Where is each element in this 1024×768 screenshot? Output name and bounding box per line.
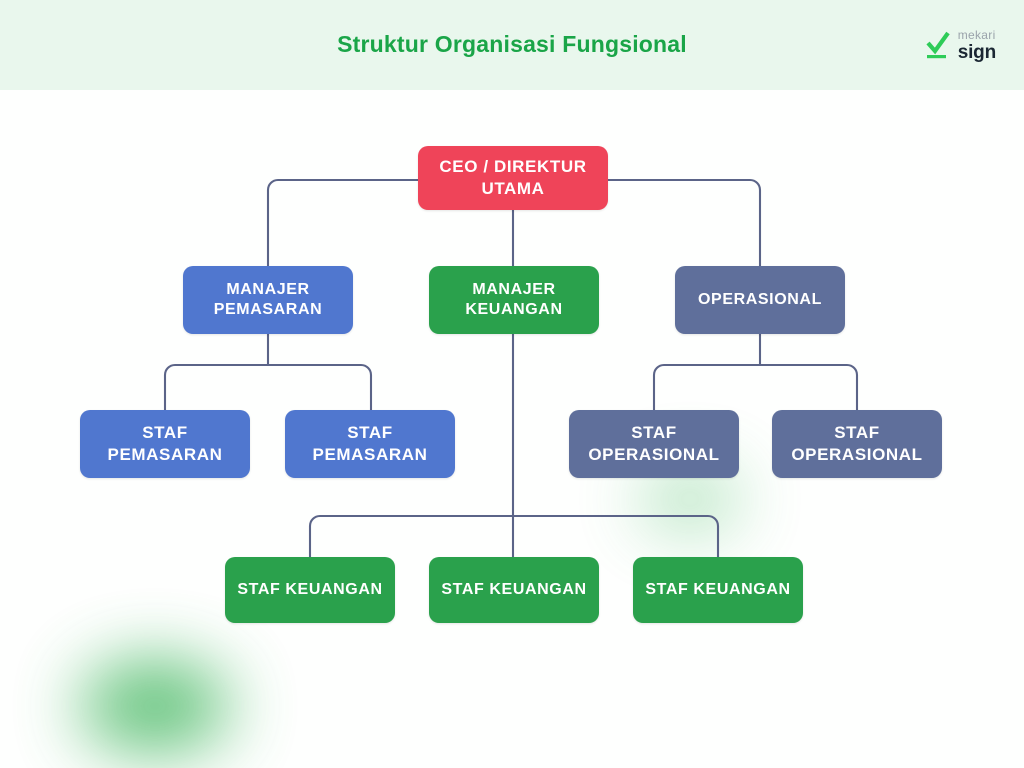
node-ceo[interactable]: CEO / DIREKTUR UTAMA: [418, 146, 608, 210]
green-check-icon: [925, 30, 951, 60]
node-staf-operasional-1[interactable]: STAF OPERASIONAL: [569, 410, 739, 478]
node-manajer-keuangan[interactable]: MANAJER KEUANGAN: [429, 266, 599, 334]
page-title: Struktur Organisasi Fungsional: [0, 31, 1024, 58]
header-band: Struktur Organisasi Fungsional mekari si…: [0, 0, 1024, 90]
node-manajer-pemasaran[interactable]: MANAJER PEMASARAN: [183, 266, 353, 334]
brand-name-mekari: mekari: [958, 29, 996, 41]
node-operasional[interactable]: OPERASIONAL: [675, 266, 845, 334]
node-staf-pemasaran-2[interactable]: STAF PEMASARAN: [285, 410, 455, 478]
brand-name-sign: sign: [958, 43, 996, 62]
node-staf-operasional-2[interactable]: STAF OPERASIONAL: [772, 410, 942, 478]
node-staf-keuangan-1[interactable]: STAF KEUANGAN: [225, 557, 395, 623]
org-chart-canvas: CEO / DIREKTUR UTAMA MANAJER PEMASARAN M…: [0, 90, 1024, 768]
brand-logo: mekari sign: [925, 22, 996, 68]
node-staf-pemasaran-1[interactable]: STAF PEMASARAN: [80, 410, 250, 478]
node-staf-keuangan-2[interactable]: STAF KEUANGAN: [429, 557, 599, 623]
brand-wordmark: mekari sign: [958, 29, 996, 62]
node-staf-keuangan-3[interactable]: STAF KEUANGAN: [633, 557, 803, 623]
